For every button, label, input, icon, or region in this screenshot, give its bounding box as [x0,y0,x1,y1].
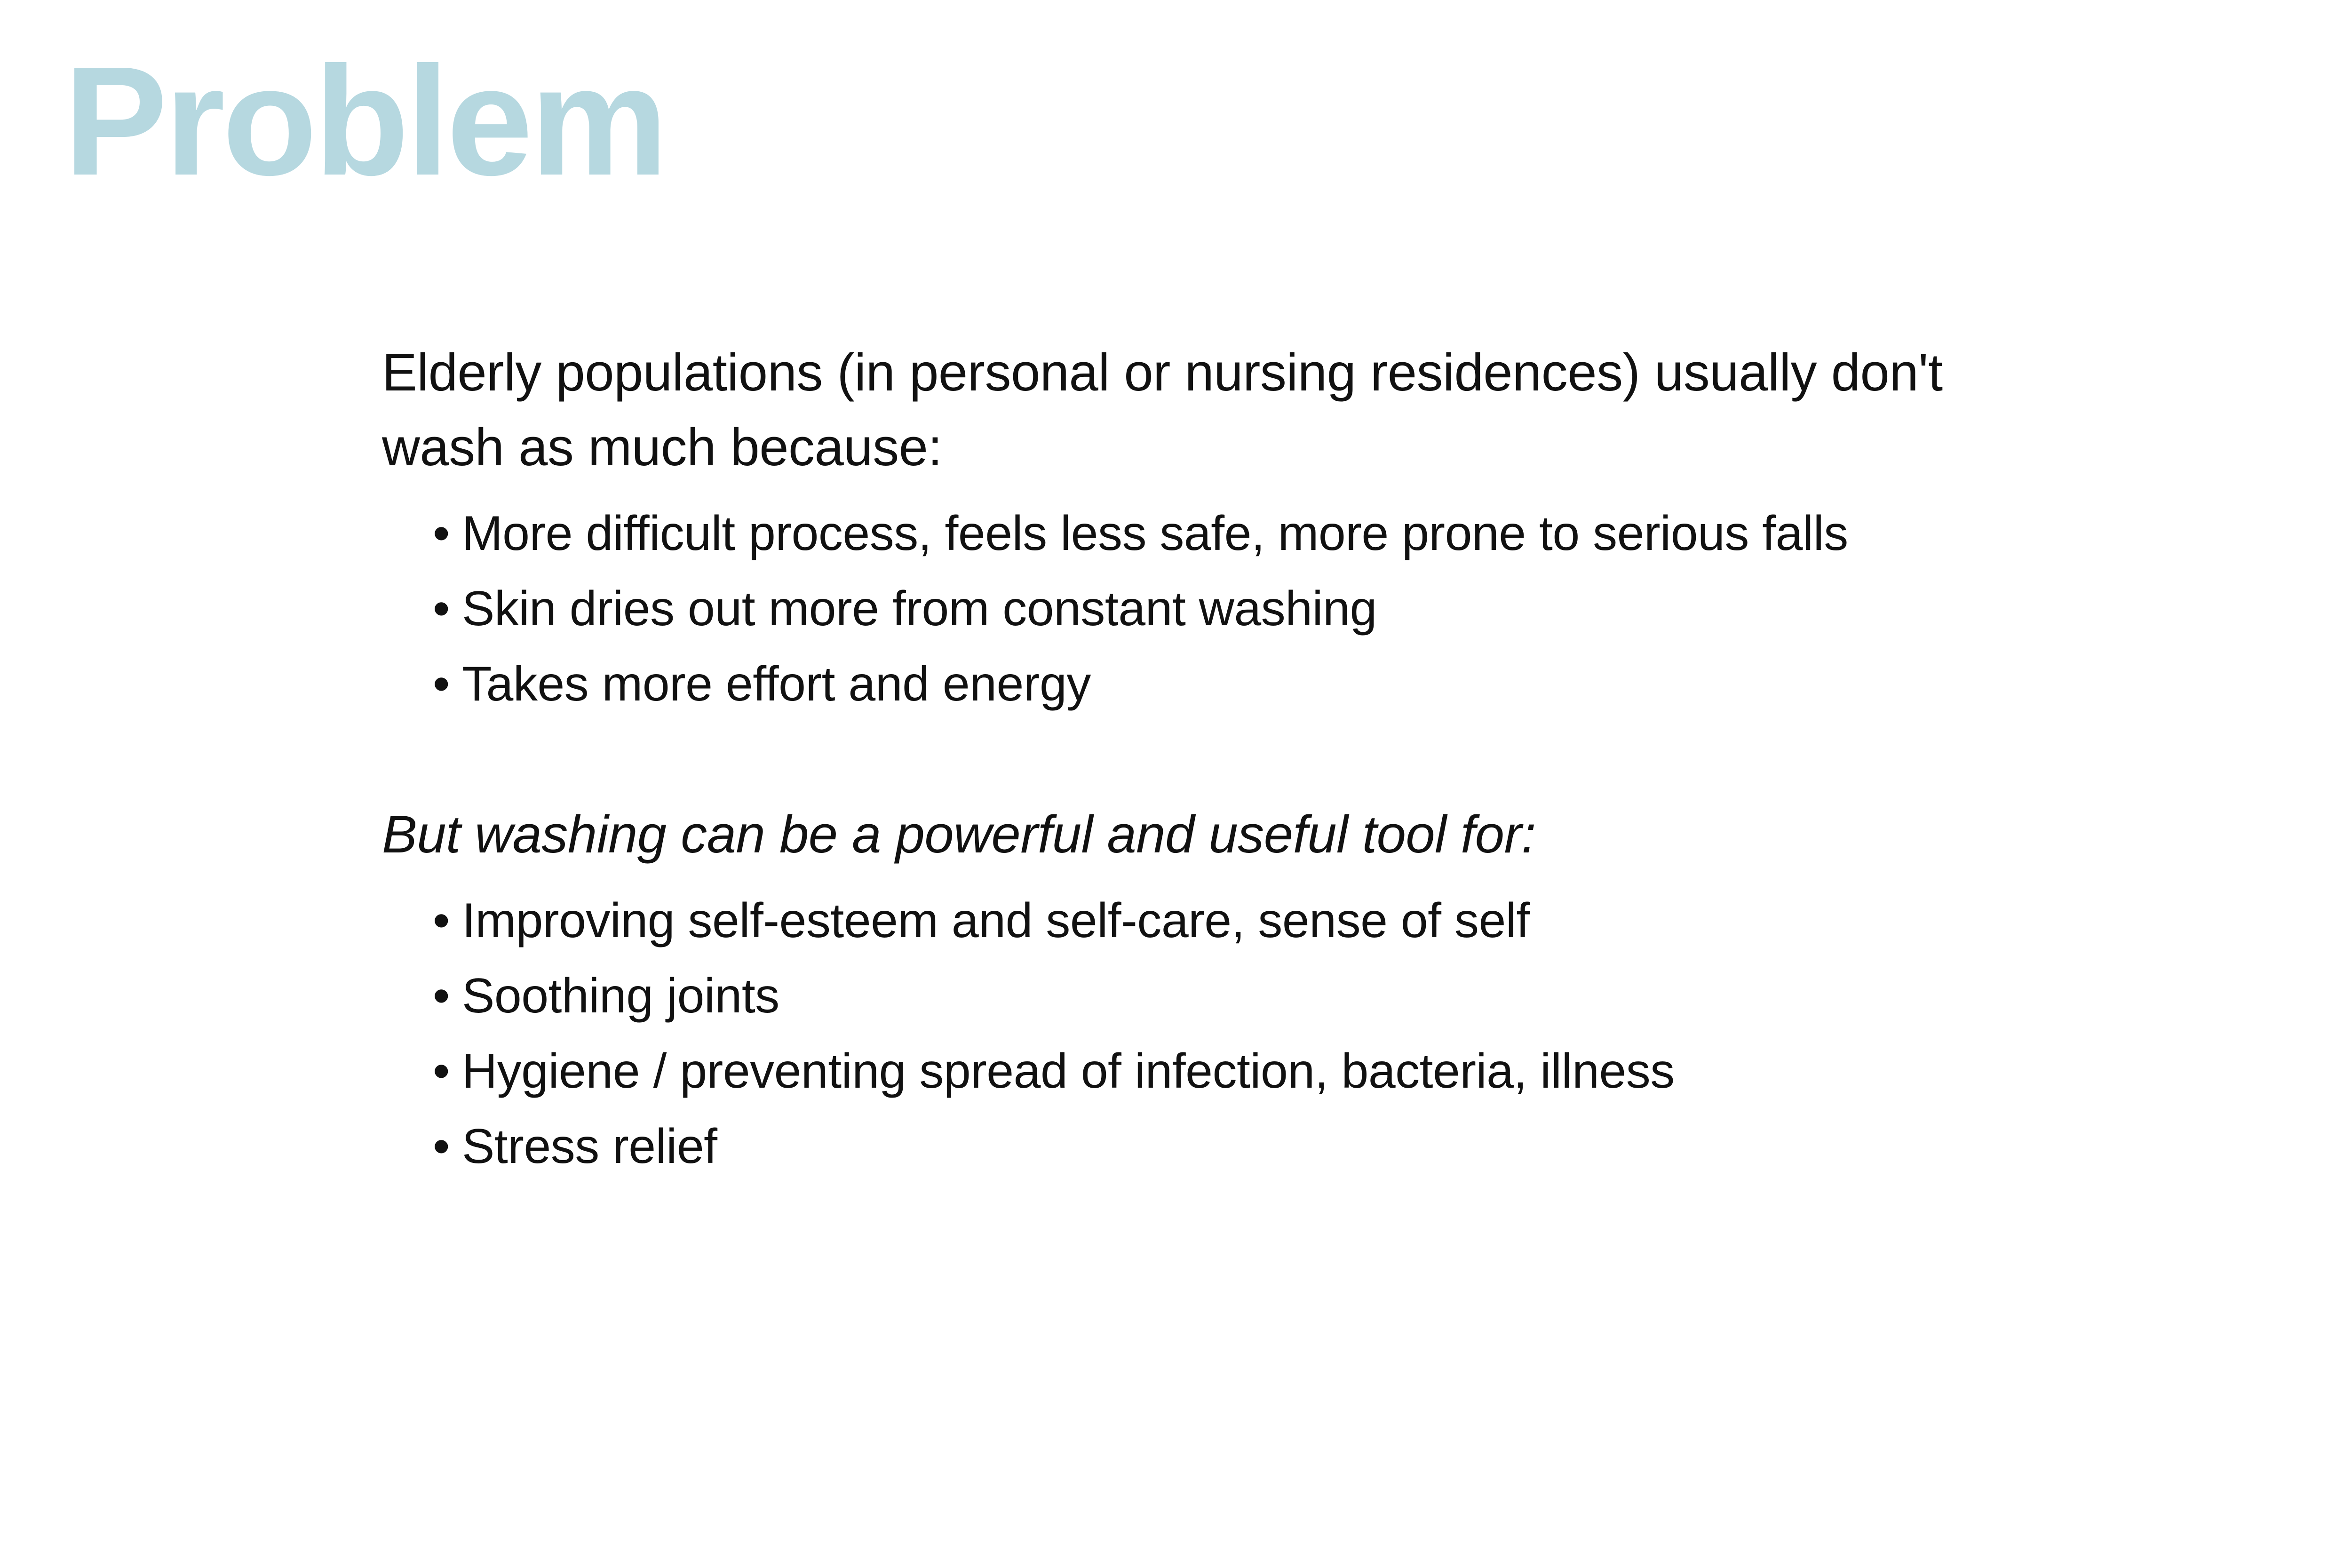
intro-paragraph: Elderly populations (in personal or nurs… [382,335,1958,485]
section-spacer [382,708,2311,797]
bullet-point-icon: • [433,1122,450,1171]
list-item-label: Improving self-esteem and self-care, sen… [462,893,1530,948]
list-item-label: Skin dries out more from constant washin… [462,581,1377,636]
list-item: • Stress relief [382,1122,2311,1171]
list-item-label: Stress relief [462,1119,717,1174]
list-item: • Takes more effort and energy [382,660,2311,708]
page-title: Problem [64,43,665,199]
list-item: • Hygiene / preventing spread of infecti… [382,1047,2311,1096]
benefits-heading: But washing can be a powerful and useful… [382,797,2311,872]
presentation-slide: Problem Elderly populations (in personal… [0,0,2352,1568]
bullet-point-icon: • [433,971,450,1020]
slide-body: Elderly populations (in personal or nurs… [382,335,2311,1171]
bullet-point-icon: • [433,896,450,945]
benefits-bullet-list: • Improving self-esteem and self-care, s… [382,896,2311,1171]
bullet-point-icon: • [433,584,450,633]
problems-bullet-list: • More difficult process, feels less saf… [382,509,2311,708]
list-item: • Skin dries out more from constant wash… [382,584,2311,633]
list-item-label: Hygiene / preventing spread of infection… [462,1044,1675,1098]
list-item: • Improving self-esteem and self-care, s… [382,896,2311,945]
list-item-label: Takes more effort and energy [462,657,1091,711]
list-item: • Soothing joints [382,971,2311,1020]
bullet-point-icon: • [433,660,450,708]
bullet-point-icon: • [433,1047,450,1096]
list-item-label: More difficult process, feels less safe,… [462,506,1848,561]
list-item-label: Soothing joints [462,969,779,1023]
list-item: • More difficult process, feels less saf… [382,509,2311,558]
bullet-point-icon: • [433,509,450,558]
